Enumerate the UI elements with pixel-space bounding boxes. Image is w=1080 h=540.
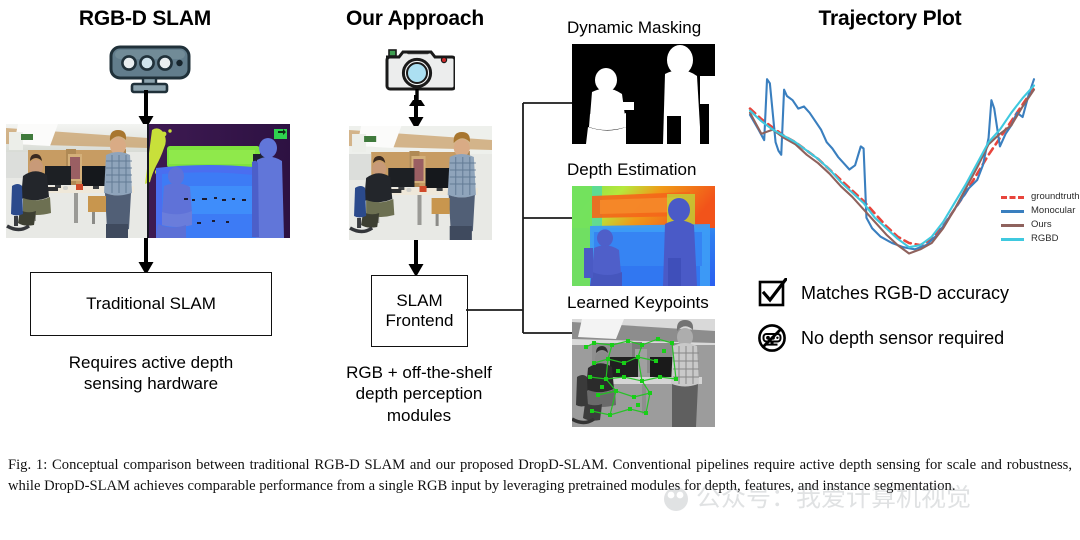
trajectory-chart — [742, 48, 1042, 270]
column-title-our-approach: Our Approach — [285, 7, 545, 31]
rgbd-note-line-2: sensing hardware — [20, 373, 282, 394]
slam-frontend-label-line-2: Frontend — [385, 311, 453, 331]
ours-note: RGB + off-the-shelf depth perception mod… — [313, 362, 525, 426]
rgbd-input-image — [6, 124, 290, 238]
chart-series-ours — [750, 90, 1034, 254]
rgbd-note-line-1: Requires active depth — [20, 352, 282, 373]
legend-row-groundtruth: groundtruth — [1001, 190, 1080, 204]
column-title-rgbd-slam: RGB-D SLAM — [0, 7, 290, 31]
bullet-matches-accuracy: Matches RGB-D accuracy — [757, 278, 1009, 308]
panel-caption-learned-keypoints: Learned Keypoints — [567, 293, 709, 313]
panel-caption-dynamic-masking: Dynamic Masking — [567, 18, 701, 38]
chart-legend: groundtruth Monocular Ours RGBD — [1001, 190, 1080, 246]
bullet-no-depth-sensor: No depth sensor required — [757, 323, 1004, 353]
arrow-rgbd-image-to-slam — [135, 238, 157, 276]
legend-row-rgbd: RGBD — [1001, 232, 1080, 246]
traditional-slam-box: Traditional SLAM — [30, 272, 272, 336]
figure-caption: Fig. 1: Conceptual comparison between tr… — [8, 455, 1072, 498]
legend-row-ours: Ours — [1001, 218, 1080, 232]
legend-row-monocular: Monocular — [1001, 204, 1080, 218]
slam-frontend-box: SLAM Frontend — [371, 275, 468, 347]
legend-swatch-ours — [1001, 224, 1024, 227]
ours-note-line-1: RGB + off-the-shelf — [313, 362, 525, 383]
figure-root: RGB-D SLAM Our Approach Trajectory Plot — [0, 0, 1080, 540]
dynamic-masking-image — [572, 44, 715, 144]
legend-label-ours: Ours — [1031, 220, 1052, 230]
ours-note-line-3: modules — [313, 405, 525, 426]
legend-swatch-monocular — [1001, 210, 1024, 213]
depth-estimation-image — [572, 186, 715, 286]
legend-label-groundtruth: groundtruth — [1031, 192, 1080, 202]
traditional-slam-label: Traditional SLAM — [86, 294, 216, 314]
checkbox-checked-icon — [757, 278, 787, 308]
column-title-trajectory-plot: Trajectory Plot — [740, 7, 1040, 31]
bullet-label-matches-accuracy: Matches RGB-D accuracy — [801, 283, 1009, 304]
legend-swatch-groundtruth — [1001, 196, 1024, 199]
arrow-rgb-image-to-frontend — [405, 240, 427, 278]
ours-note-line-2: depth perception — [313, 383, 525, 404]
frontend-branch-connectors — [462, 85, 582, 345]
legend-label-rgbd: RGBD — [1031, 234, 1058, 244]
bullet-label-no-depth-sensor: No depth sensor required — [801, 328, 1004, 349]
panel-caption-depth-estimation: Depth Estimation — [567, 160, 696, 180]
legend-label-monocular: Monocular — [1031, 206, 1075, 216]
rgbd-note: Requires active depth sensing hardware — [20, 352, 282, 395]
chart-series-monocular — [750, 79, 1034, 249]
no-depth-sensor-icon — [757, 323, 787, 353]
slam-frontend-label-line-1: SLAM — [396, 291, 442, 311]
learned-keypoints-image — [572, 319, 715, 427]
legend-swatch-rgbd — [1001, 238, 1024, 241]
